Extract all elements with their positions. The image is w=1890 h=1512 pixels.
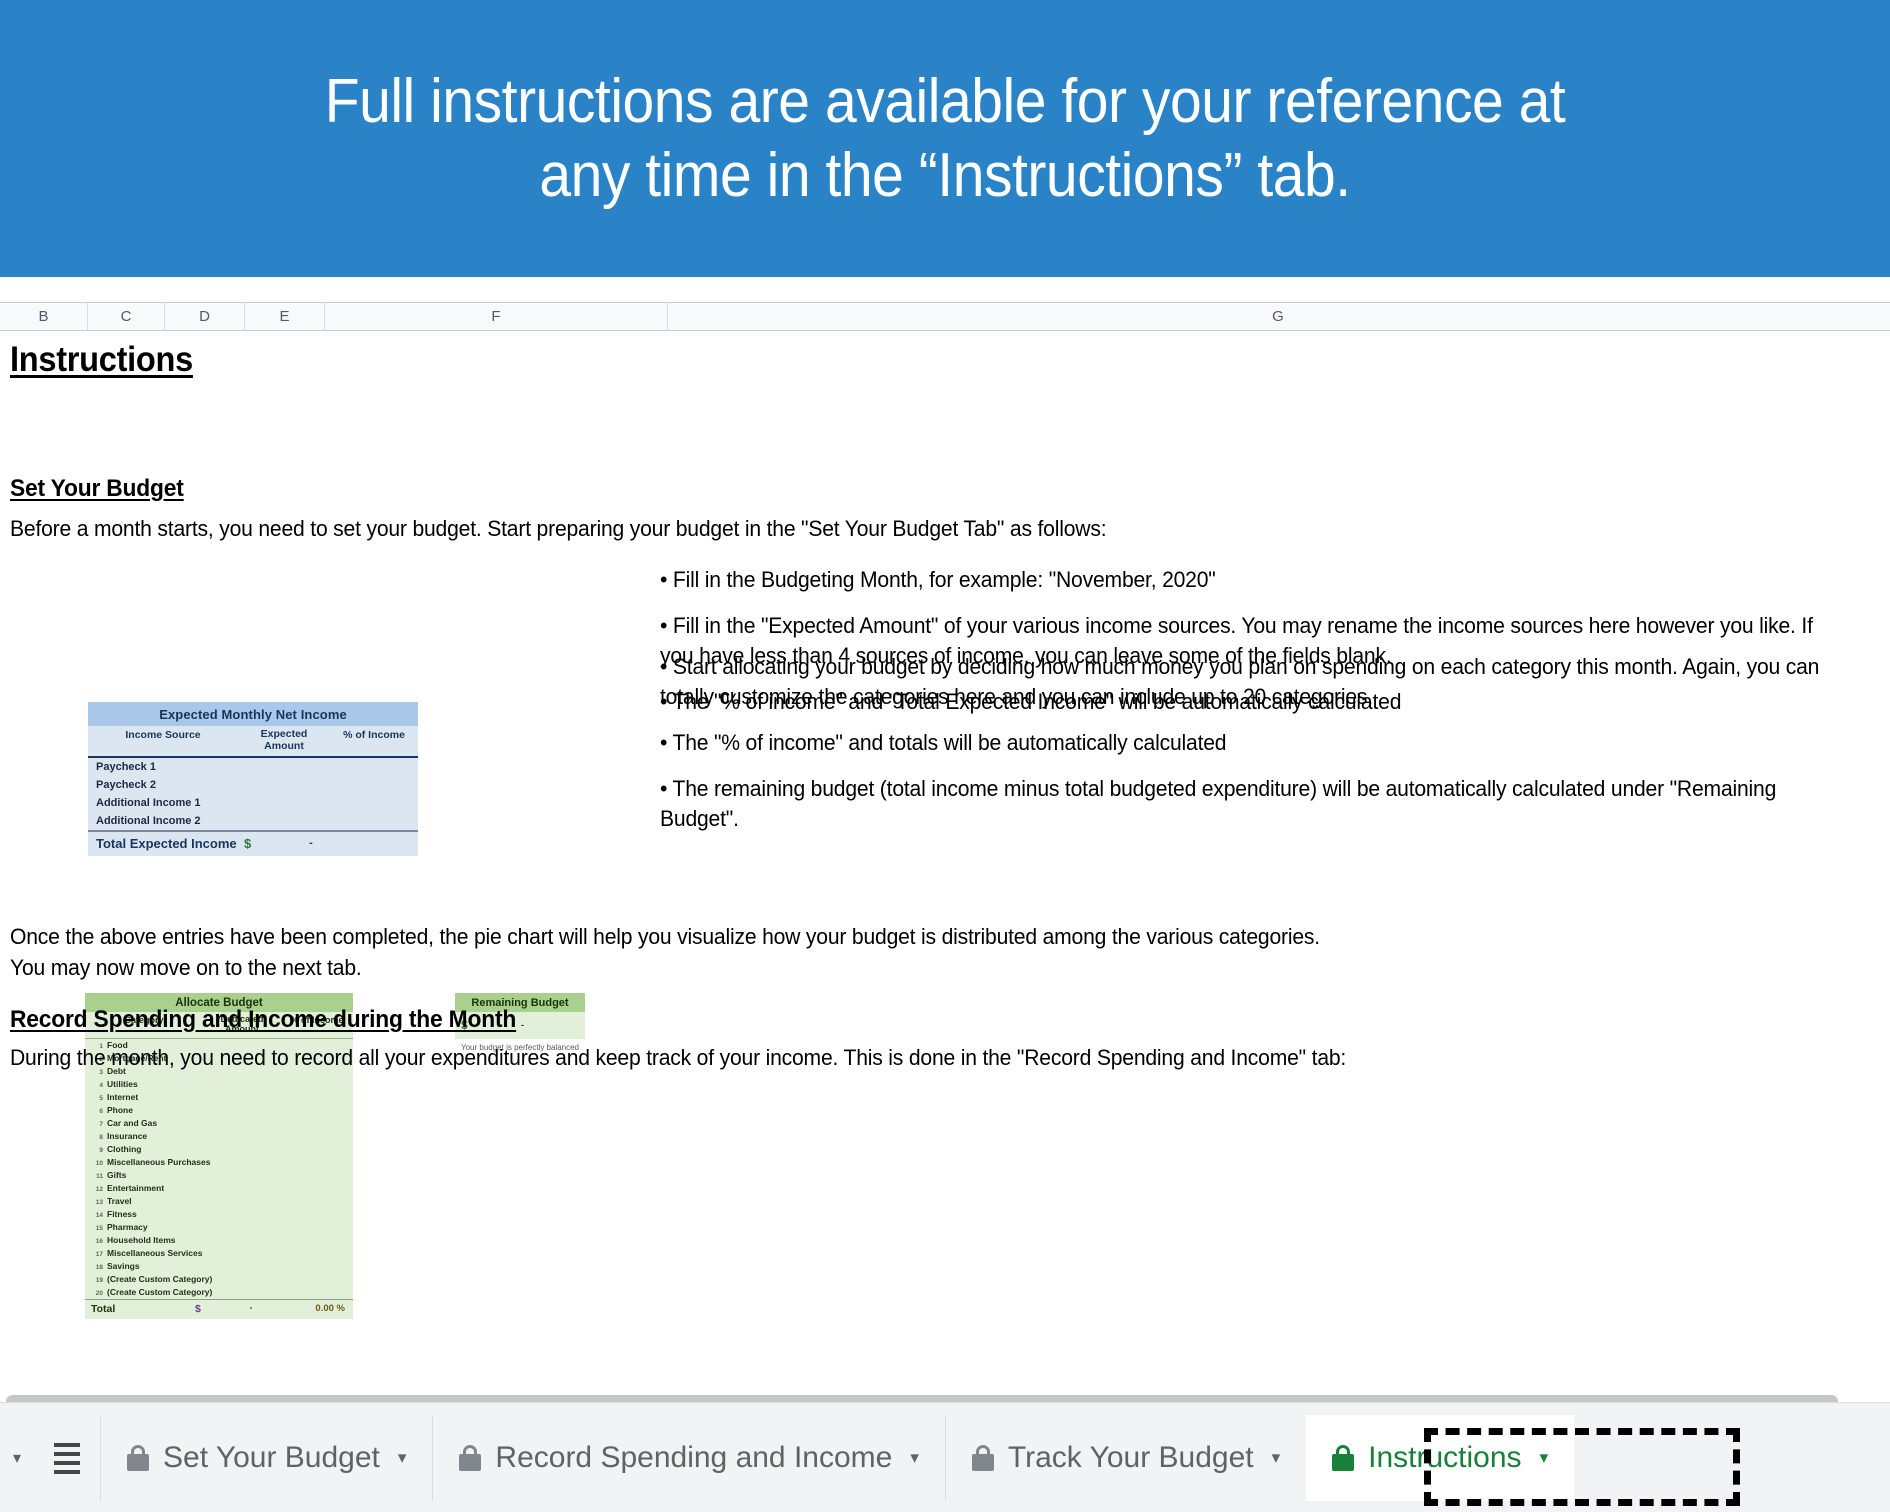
allocate-row: 4Utilities (85, 1078, 353, 1091)
allocate-row-number: 4 (89, 1082, 103, 1089)
sheet-tab-set-your-budget[interactable]: Set Your Budget ▾ (100, 1415, 432, 1501)
allocate-row-label: Travel (107, 1196, 132, 1206)
sheet-tab-label: Record Spending and Income (495, 1441, 892, 1475)
sheet-tab-instructions[interactable]: Instructions ▾ (1306, 1415, 1574, 1501)
allocate-total-label: Total (91, 1303, 195, 1315)
income-bullet-1: • Fill in the Budgeting Month, for examp… (660, 565, 1822, 595)
lock-icon (1332, 1445, 1354, 1471)
allocate-total-currency: $ (195, 1303, 213, 1315)
allocate-row-label: Miscellaneous Services (107, 1248, 202, 1258)
allocate-row-number: 14 (89, 1212, 103, 1219)
allocate-row-label: Household Items (107, 1235, 175, 1245)
income-total-label: Total Expected Income (96, 836, 244, 851)
slide-banner: Full instructions are available for your… (0, 0, 1890, 277)
allocate-row-number: 8 (89, 1134, 103, 1141)
allocate-row: 18Savings (85, 1260, 353, 1273)
allocate-bullet-list: • Start allocating your budget by decidi… (660, 652, 1841, 834)
allocate-row-label: Insurance (107, 1131, 147, 1141)
allocate-row: 16Household Items (85, 1234, 353, 1247)
column-header-d[interactable]: D (165, 303, 245, 330)
sheet-tab-bar: ▾ Set Your Budget ▾ Record Spending and … (0, 1402, 1890, 1512)
allocate-row-number: 10 (89, 1160, 103, 1167)
income-header-percent-of-income: % of Income (330, 729, 418, 753)
banner-line-1: Full instructions are available for your… (122, 65, 1769, 138)
allocate-row-label: Car and Gas (107, 1118, 157, 1128)
allocate-row: 13Travel (85, 1195, 353, 1208)
section-heading-record-spending: Record Spending and Income during the Mo… (10, 1006, 516, 1034)
allocate-row-number: 20 (89, 1290, 103, 1297)
allocate-row-number: 18 (89, 1264, 103, 1271)
allocate-row-label: Clothing (107, 1144, 141, 1154)
section-heading-set-your-budget: Set Your Budget (10, 475, 184, 503)
lock-icon (459, 1445, 481, 1471)
allocate-row-number: 7 (89, 1121, 103, 1128)
allocate-row: 6Phone (85, 1104, 353, 1117)
lock-icon (972, 1445, 994, 1471)
allocate-total-percent: 0.00 % (289, 1303, 351, 1315)
allocate-row-label: Fitness (107, 1209, 137, 1219)
allocate-row-label: (Create Custom Category) (107, 1274, 212, 1284)
allocate-row: 19(Create Custom Category) (85, 1273, 353, 1286)
allocate-row: 8Insurance (85, 1130, 353, 1143)
allocate-row-number: 9 (89, 1147, 103, 1154)
income-header-source: Income Source (88, 729, 238, 753)
allocate-total-row: Total $ - 0.00 % (85, 1300, 353, 1319)
allocate-row: 20(Create Custom Category) (85, 1286, 353, 1300)
sheet-tab-record-spending-and-income[interactable]: Record Spending and Income ▾ (432, 1415, 944, 1501)
income-table-header-row: Income Source ExpectedAmount % of Income (88, 726, 418, 758)
allocate-row: 15Pharmacy (85, 1221, 353, 1234)
sheet-tab-strip: ▾ Set Your Budget ▾ Record Spending and … (0, 1415, 1574, 1501)
allocate-row-number: 19 (89, 1277, 103, 1284)
allocate-row-number: 15 (89, 1225, 103, 1232)
allocate-total-value: - (213, 1303, 289, 1315)
sheet-tab-label: Set Your Budget (163, 1441, 380, 1475)
income-row: Paycheck 1 (88, 758, 418, 776)
allocate-row-label: (Create Custom Category) (107, 1287, 212, 1297)
page-title: Instructions (10, 340, 193, 380)
allocate-row-number: 5 (89, 1095, 103, 1102)
income-total-value: - (266, 837, 356, 849)
allocate-bullet-3: • The remaining budget (total income min… (660, 774, 1841, 834)
column-header-e[interactable]: E (245, 303, 325, 330)
chevron-down-icon[interactable]: ▾ (1540, 1448, 1549, 1468)
section-intro-record-spending: During the month, you need to record all… (10, 1043, 1508, 1072)
income-row: Paycheck 2 (88, 776, 418, 794)
allocate-row-number: 12 (89, 1186, 103, 1193)
allocate-row-number: 13 (89, 1199, 103, 1206)
chevron-down-icon[interactable]: ▾ (910, 1448, 919, 1468)
lock-icon (127, 1445, 149, 1471)
sheet-tab-label: Instructions (1368, 1441, 1521, 1475)
allocate-row: 12Entertainment (85, 1182, 353, 1195)
allocate-row-number: 16 (89, 1238, 103, 1245)
column-header-f[interactable]: F (325, 303, 668, 330)
allocate-bullet-2: • The "% of income" and totals will be a… (660, 728, 1841, 758)
sheet-tab-track-your-budget[interactable]: Track Your Budget ▾ (945, 1415, 1306, 1501)
allocate-row-label: Savings (107, 1261, 140, 1271)
allocate-row-label: Phone (107, 1105, 133, 1115)
column-header-c[interactable]: C (88, 303, 165, 330)
closing-text-line-2: You may now move on to the next tab. (10, 953, 970, 982)
all-sheets-icon[interactable] (34, 1415, 100, 1501)
allocate-row-label: Internet (107, 1092, 138, 1102)
allocate-row: 11Gifts (85, 1169, 353, 1182)
allocate-row: 10Miscellaneous Purchases (85, 1156, 353, 1169)
income-table-caption: Expected Monthly Net Income (88, 702, 418, 726)
income-total-row: Total Expected Income $ - (88, 832, 418, 856)
allocate-row-label: Entertainment (107, 1183, 164, 1193)
caret-glyph: ▾ (13, 1448, 21, 1468)
closing-text-line-1: Once the above entries have been complet… (10, 922, 1373, 951)
allocate-row: 14Fitness (85, 1208, 353, 1221)
allocate-row-number: 11 (89, 1173, 103, 1180)
allocate-bullet-1: • Start allocating your budget by decidi… (660, 652, 1841, 712)
allocate-budget-table: Allocate Budget Category DedicatedAmount… (85, 993, 353, 1319)
chevron-down-icon[interactable]: ▾ (398, 1448, 407, 1468)
column-header-row: B C D E F G (0, 302, 1890, 331)
hamburger-icon (54, 1443, 80, 1474)
banner-heading: Full instructions are available for your… (122, 65, 1769, 211)
sheet-tab-label: Track Your Budget (1008, 1441, 1254, 1475)
allocate-row-number: 17 (89, 1251, 103, 1258)
allocate-row-label: Utilities (107, 1079, 138, 1089)
allocate-row: 17Miscellaneous Services (85, 1247, 353, 1260)
allocate-row: 9Clothing (85, 1143, 353, 1156)
banner-line-2: any time in the “Instructions” tab. (122, 139, 1769, 212)
allocate-row-label: Miscellaneous Purchases (107, 1157, 210, 1167)
column-header-g[interactable]: G (668, 303, 1888, 330)
income-header-expected-amount: ExpectedAmount (238, 729, 330, 753)
column-header-b[interactable]: B (0, 303, 88, 330)
allocate-row: 7Car and Gas (85, 1117, 353, 1130)
remaining-budget-value: - (521, 1020, 524, 1030)
allocate-row: 5Internet (85, 1091, 353, 1104)
add-sheet-caret-icon[interactable]: ▾ (0, 1415, 34, 1501)
income-row: Additional Income 2 (88, 812, 418, 832)
allocate-row-number: 6 (89, 1108, 103, 1115)
chevron-down-icon[interactable]: ▾ (1272, 1448, 1281, 1468)
section-intro-set-your-budget: Before a month starts, you need to set y… (10, 514, 1114, 543)
expected-monthly-net-income-table: Expected Monthly Net Income Income Sourc… (88, 702, 418, 856)
income-row: Additional Income 1 (88, 794, 418, 812)
allocate-row-label: Pharmacy (107, 1222, 148, 1232)
spreadsheet-viewport: B C D E F G Instructions Set Your Budget… (0, 277, 1890, 1402)
allocate-row-label: Gifts (107, 1170, 126, 1180)
income-total-currency: $ (244, 836, 266, 851)
